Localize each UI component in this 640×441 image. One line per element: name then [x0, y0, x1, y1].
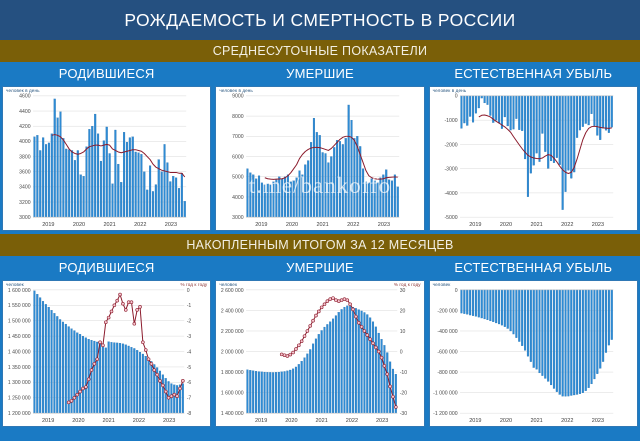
svg-text:2020: 2020 [500, 222, 512, 228]
svg-text:2022: 2022 [133, 418, 145, 424]
svg-text:-2000: -2000 [444, 142, 457, 148]
svg-text:1 250 000: 1 250 000 [8, 396, 31, 402]
plot-cumulative-births: 1 200 0001 250 0001 300 0001 350 0001 40… [3, 281, 210, 426]
svg-text:-30: -30 [400, 411, 408, 417]
svg-text:2019: 2019 [42, 418, 54, 424]
chart-cumulative-deaths[interactable]: человек % год к году 1 400 0001 600 0001… [215, 280, 424, 427]
svg-text:2021: 2021 [530, 222, 542, 228]
svg-text:-8: -8 [187, 411, 192, 417]
infographic-page: РОЖДАЕМОСТЬ И СМЕРТНОСТЬ В РОССИИ СРЕДНЕ… [0, 0, 640, 441]
plot-daily-deaths: 3000400050006000700080009000201920202021… [216, 87, 423, 230]
svg-text:4400: 4400 [19, 109, 31, 115]
svg-text:3000: 3000 [19, 215, 31, 221]
svg-text:2023: 2023 [376, 418, 388, 424]
axis-unit-left: человек [6, 282, 24, 287]
svg-text:2020: 2020 [73, 222, 85, 228]
plot-cumulative-deaths: 1 400 0001 600 0001 800 0002 000 0002 20… [216, 281, 423, 426]
svg-text:-1000: -1000 [444, 118, 457, 124]
svg-text:4600: 4600 [19, 94, 31, 100]
svg-text:2019: 2019 [42, 222, 54, 228]
svg-text:-4: -4 [187, 349, 192, 355]
svg-text:2020: 2020 [72, 418, 84, 424]
svg-text:-5: -5 [187, 365, 192, 371]
section-header-cumulative: НАКОПЛЕННЫМ ИТОГОМ ЗА 12 МЕСЯЦЕВ [0, 234, 640, 256]
svg-text:-3: -3 [187, 334, 192, 340]
chart-row-daily: человек в день 3000320034003600380040004… [0, 84, 640, 234]
svg-text:5000: 5000 [233, 175, 245, 181]
chart-cell-daily-births: человек в день 3000320034003600380040004… [0, 84, 213, 234]
svg-text:0: 0 [400, 349, 403, 355]
svg-text:4000: 4000 [233, 195, 245, 201]
chart-daily-births[interactable]: человек в день 3000320034003600380040004… [2, 86, 211, 231]
svg-text:3800: 3800 [19, 154, 31, 160]
svg-text:2021: 2021 [316, 418, 328, 424]
svg-text:0: 0 [454, 288, 457, 294]
svg-text:-10: -10 [400, 370, 408, 376]
svg-text:1 350 000: 1 350 000 [8, 365, 31, 371]
svg-text:-800 000: -800 000 [437, 370, 457, 376]
svg-text:2019: 2019 [469, 418, 481, 424]
svg-text:30: 30 [400, 288, 406, 294]
axis-unit-left: человек в день [433, 88, 467, 93]
svg-text:1 200 000: 1 200 000 [8, 411, 31, 417]
svg-text:2 200 000: 2 200 000 [221, 329, 244, 335]
svg-text:-4000: -4000 [444, 191, 457, 197]
chart-cell-daily-deaths: человек в день 3000400050006000700080009… [213, 84, 426, 234]
plot-daily-births: 3000320034003600380040004200440046002019… [3, 87, 210, 230]
svg-text:1 600 000: 1 600 000 [221, 391, 244, 397]
svg-text:4000: 4000 [19, 139, 31, 145]
svg-text:2023: 2023 [378, 222, 390, 228]
svg-text:2020: 2020 [286, 418, 298, 424]
axis-unit-left: человек в день [219, 88, 253, 93]
svg-text:-400 000: -400 000 [437, 329, 457, 335]
column-header-natural-decline-daily: ЕСТЕСТВЕННАЯ УБЫЛЬ [427, 62, 640, 84]
svg-text:2022: 2022 [347, 222, 359, 228]
chart-cumulative-natural-decline[interactable]: человек 0-200 000-400 000-600 000-800 00… [429, 280, 638, 427]
page-title: РОЖДАЕМОСТЬ И СМЕРТНОСТЬ В РОССИИ [0, 0, 640, 40]
section-header-daily: СРЕДНЕСУТОЧНЫЕ ПОКАЗАТЕЛИ [0, 40, 640, 62]
svg-text:-1 200 000: -1 200 000 [433, 411, 458, 417]
svg-text:-3000: -3000 [444, 167, 457, 173]
svg-text:2022: 2022 [561, 418, 573, 424]
svg-text:1 400 000: 1 400 000 [8, 349, 31, 355]
svg-text:3400: 3400 [19, 185, 31, 191]
svg-text:-1: -1 [187, 303, 192, 309]
svg-text:8000: 8000 [233, 114, 245, 120]
svg-text:2019: 2019 [256, 222, 268, 228]
svg-text:6000: 6000 [233, 154, 245, 160]
svg-text:2023: 2023 [163, 418, 175, 424]
svg-text:-200 000: -200 000 [437, 308, 457, 314]
axis-unit-left: человек [433, 282, 451, 287]
svg-text:0: 0 [454, 94, 457, 100]
svg-text:9000: 9000 [233, 94, 245, 100]
svg-text:10: 10 [400, 329, 406, 335]
svg-text:2021: 2021 [317, 222, 329, 228]
svg-text:3200: 3200 [19, 200, 31, 206]
svg-text:2 400 000: 2 400 000 [221, 308, 244, 314]
svg-text:2019: 2019 [469, 222, 481, 228]
chart-daily-natural-decline[interactable]: человек в день 0-1000-2000-3000-4000-500… [429, 86, 638, 231]
svg-text:2 000 000: 2 000 000 [221, 349, 244, 355]
svg-text:2023: 2023 [591, 222, 603, 228]
svg-text:0: 0 [187, 288, 190, 294]
svg-text:1 600 000: 1 600 000 [8, 288, 31, 294]
svg-text:1 800 000: 1 800 000 [221, 370, 244, 376]
chart-cumulative-births[interactable]: человек % год к году 1 200 0001 250 0001… [2, 280, 211, 427]
svg-text:2021: 2021 [103, 222, 115, 228]
svg-text:-600 000: -600 000 [437, 349, 457, 355]
column-header-births-daily: РОДИВШИЕСЯ [0, 62, 213, 84]
chart-row-cumulative: человек % год к году 1 200 0001 250 0001… [0, 278, 640, 430]
svg-text:2022: 2022 [134, 222, 146, 228]
svg-text:7000: 7000 [233, 134, 245, 140]
plot-daily-natural-decline: 0-1000-2000-3000-4000-500020192020202120… [430, 87, 637, 230]
column-header-natural-decline-cumulative: ЕСТЕСТВЕННАЯ УБЫЛЬ [427, 256, 640, 278]
svg-text:-7: -7 [187, 396, 192, 402]
svg-text:3600: 3600 [19, 170, 31, 176]
svg-text:20: 20 [400, 308, 406, 314]
chart-daily-deaths[interactable]: человек в день 3000400050006000700080009… [215, 86, 424, 231]
svg-text:2023: 2023 [591, 418, 603, 424]
axis-unit-left: человек [219, 282, 237, 287]
svg-text:-6: -6 [187, 380, 192, 386]
svg-text:-2: -2 [187, 319, 192, 325]
axis-unit-left: человек в день [6, 88, 40, 93]
column-header-deaths-cumulative: УМЕРШИЕ [213, 256, 426, 278]
svg-text:3000: 3000 [233, 215, 245, 221]
svg-text:2021: 2021 [102, 418, 114, 424]
svg-text:-1 000 000: -1 000 000 [433, 391, 458, 397]
svg-text:1 300 000: 1 300 000 [8, 380, 31, 386]
svg-text:2021: 2021 [530, 418, 542, 424]
svg-text:1 550 000: 1 550 000 [8, 303, 31, 309]
svg-text:2 600 000: 2 600 000 [221, 288, 244, 294]
svg-text:1 450 000: 1 450 000 [8, 334, 31, 340]
svg-text:4200: 4200 [19, 124, 31, 130]
svg-text:2020: 2020 [286, 222, 298, 228]
svg-text:2022: 2022 [346, 418, 358, 424]
plot-cumulative-natural-decline: 0-200 000-400 000-600 000-800 000-1 000 … [430, 281, 637, 426]
axis-unit-right: % год к году [394, 282, 421, 287]
svg-text:-20: -20 [400, 391, 408, 397]
svg-text:2020: 2020 [499, 418, 511, 424]
chart-cell-cumulative-deaths: человек % год к году 1 400 0001 600 0001… [213, 278, 426, 430]
svg-text:2019: 2019 [255, 418, 267, 424]
svg-text:2022: 2022 [561, 222, 573, 228]
chart-cell-cumulative-natural-decline: человек 0-200 000-400 000-600 000-800 00… [427, 278, 640, 430]
column-headers-cumulative: РОДИВШИЕСЯ УМЕРШИЕ ЕСТЕСТВЕННАЯ УБЫЛЬ [0, 256, 640, 278]
svg-text:1 400 000: 1 400 000 [221, 411, 244, 417]
svg-text:-5000: -5000 [444, 215, 457, 221]
column-header-deaths-daily: УМЕРШИЕ [213, 62, 426, 84]
chart-cell-daily-natural-decline: человек в день 0-1000-2000-3000-4000-500… [427, 84, 640, 234]
column-headers-daily: РОДИВШИЕСЯ УМЕРШИЕ ЕСТЕСТВЕННАЯ УБЫЛЬ [0, 62, 640, 84]
column-header-births-cumulative: РОДИВШИЕСЯ [0, 256, 213, 278]
svg-text:2023: 2023 [165, 222, 177, 228]
svg-text:1 500 000: 1 500 000 [8, 319, 31, 325]
axis-unit-right: % год к году [180, 282, 207, 287]
chart-cell-cumulative-births: человек % год к году 1 200 0001 250 0001… [0, 278, 213, 430]
